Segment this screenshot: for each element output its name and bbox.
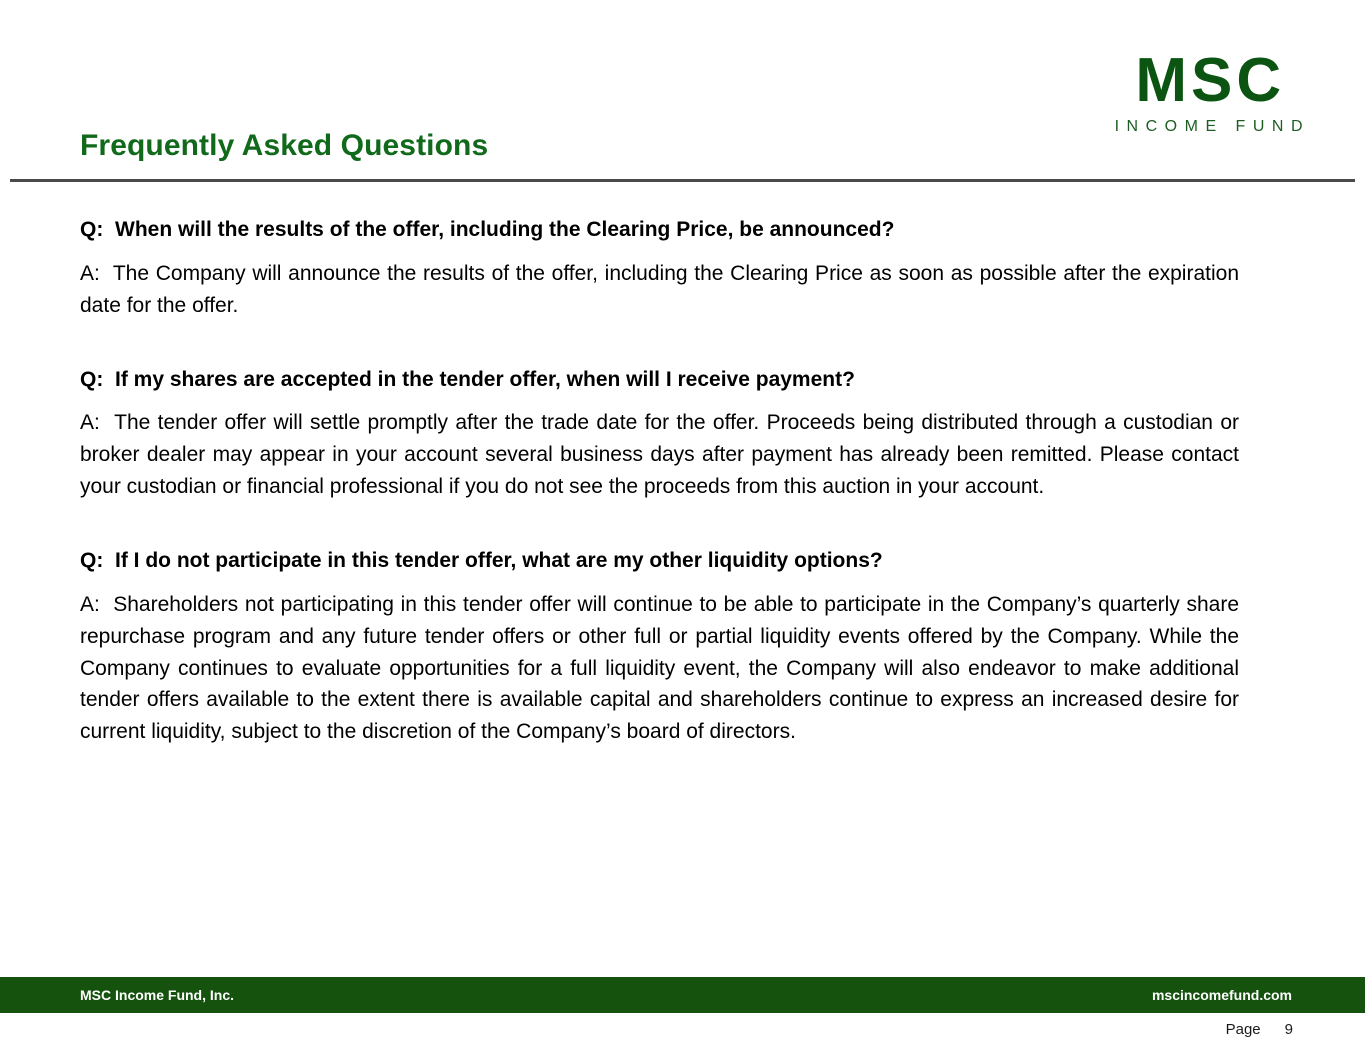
logo-subtitle: INCOME FUND bbox=[1111, 119, 1310, 135]
page-number: Page9 bbox=[1226, 1021, 1293, 1038]
msc-income-fund-logo: MSC INCOME FUND bbox=[1111, 52, 1310, 135]
page-title: Frequently Asked Questions bbox=[80, 129, 488, 163]
question-prefix: Q: bbox=[80, 549, 115, 572]
question-text: If my shares are accepted in the tender … bbox=[115, 368, 855, 391]
slide-canvas: MSC INCOME FUND Frequently Asked Questio… bbox=[0, 0, 1365, 1055]
faq-answer: A: The tender offer will settle promptly… bbox=[80, 407, 1239, 503]
faq-question: Q: When will the results of the offer, i… bbox=[80, 216, 1239, 244]
faq-question: Q: If my shares are accepted in the tend… bbox=[80, 366, 1239, 394]
title-divider bbox=[10, 179, 1355, 182]
answer-prefix: A: bbox=[80, 593, 113, 616]
answer-text: The Company will announce the results of… bbox=[80, 262, 1239, 317]
faq-item: Q: If my shares are accepted in the tend… bbox=[80, 366, 1239, 503]
question-prefix: Q: bbox=[80, 368, 115, 391]
question-prefix: Q: bbox=[80, 218, 115, 241]
faq-item: Q: If I do not participate in this tende… bbox=[80, 547, 1239, 748]
logo-wordmark: MSC bbox=[1111, 52, 1310, 111]
answer-text: Shareholders not participating in this t… bbox=[80, 593, 1239, 744]
faq-item: Q: When will the results of the offer, i… bbox=[80, 216, 1239, 322]
answer-prefix: A: bbox=[80, 411, 114, 434]
faq-content: Q: When will the results of the offer, i… bbox=[80, 216, 1239, 748]
question-text: When will the results of the offer, incl… bbox=[115, 218, 894, 241]
page-number-label: Page bbox=[1226, 1021, 1261, 1038]
footer-website-link[interactable]: mscincomefund.com bbox=[1152, 977, 1292, 1013]
faq-answer: A: The Company will announce the results… bbox=[80, 258, 1239, 322]
answer-text: The tender offer will settle promptly af… bbox=[80, 411, 1239, 498]
answer-prefix: A: bbox=[80, 262, 113, 285]
faq-answer: A: Shareholders not participating in thi… bbox=[80, 589, 1239, 749]
faq-question: Q: If I do not participate in this tende… bbox=[80, 547, 1239, 575]
page-number-value: 9 bbox=[1285, 1021, 1293, 1038]
footer-company-name: MSC Income Fund, Inc. bbox=[80, 977, 234, 1013]
footer-bar: MSC Income Fund, Inc. mscincomefund.com bbox=[0, 977, 1365, 1013]
question-text: If I do not participate in this tender o… bbox=[115, 549, 883, 572]
